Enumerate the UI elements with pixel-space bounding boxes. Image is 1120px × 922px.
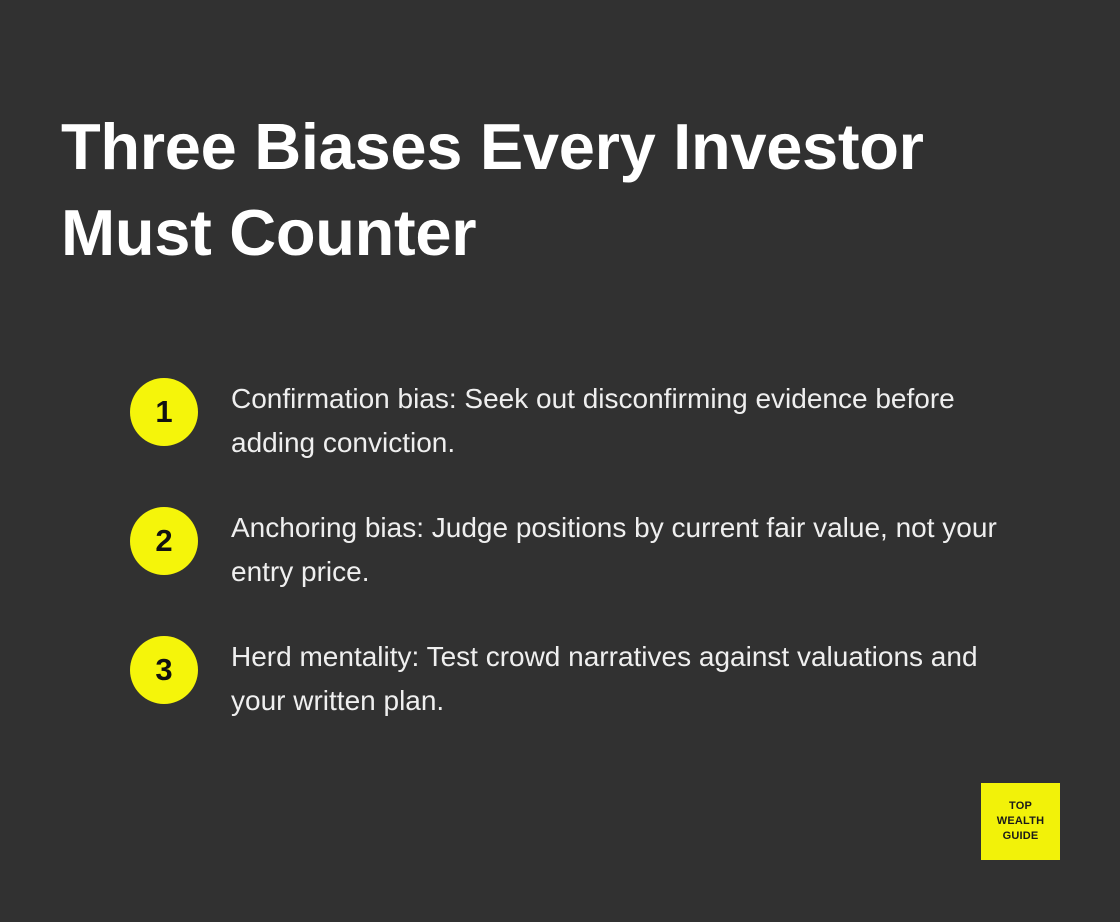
bullet-number-badge: 1 (130, 378, 198, 446)
bullet-number-badge: 2 (130, 507, 198, 575)
brand-logo-badge: TOP WEALTH GUIDE (981, 783, 1060, 860)
list-item: 1 Confirmation bias: Seek out disconfirm… (130, 376, 1030, 465)
page-title: Three Biases Every Investor Must Counter (61, 104, 981, 276)
bullet-number-badge: 3 (130, 636, 198, 704)
list-item: 2 Anchoring bias: Judge positions by cur… (130, 505, 1030, 594)
logo-line-3: GUIDE (1003, 829, 1039, 844)
bullet-text: Confirmation bias: Seek out disconfirmin… (231, 376, 1021, 465)
logo-line-1: TOP (1009, 799, 1032, 814)
list-item: 3 Herd mentality: Test crowd narratives … (130, 634, 1030, 723)
bullet-text: Anchoring bias: Judge positions by curre… (231, 505, 1021, 594)
bullet-list: 1 Confirmation bias: Seek out disconfirm… (130, 376, 1030, 723)
slide-canvas: Three Biases Every Investor Must Counter… (0, 0, 1120, 922)
logo-line-2: WEALTH (997, 814, 1044, 829)
bullet-text: Herd mentality: Test crowd narratives ag… (231, 634, 1021, 723)
